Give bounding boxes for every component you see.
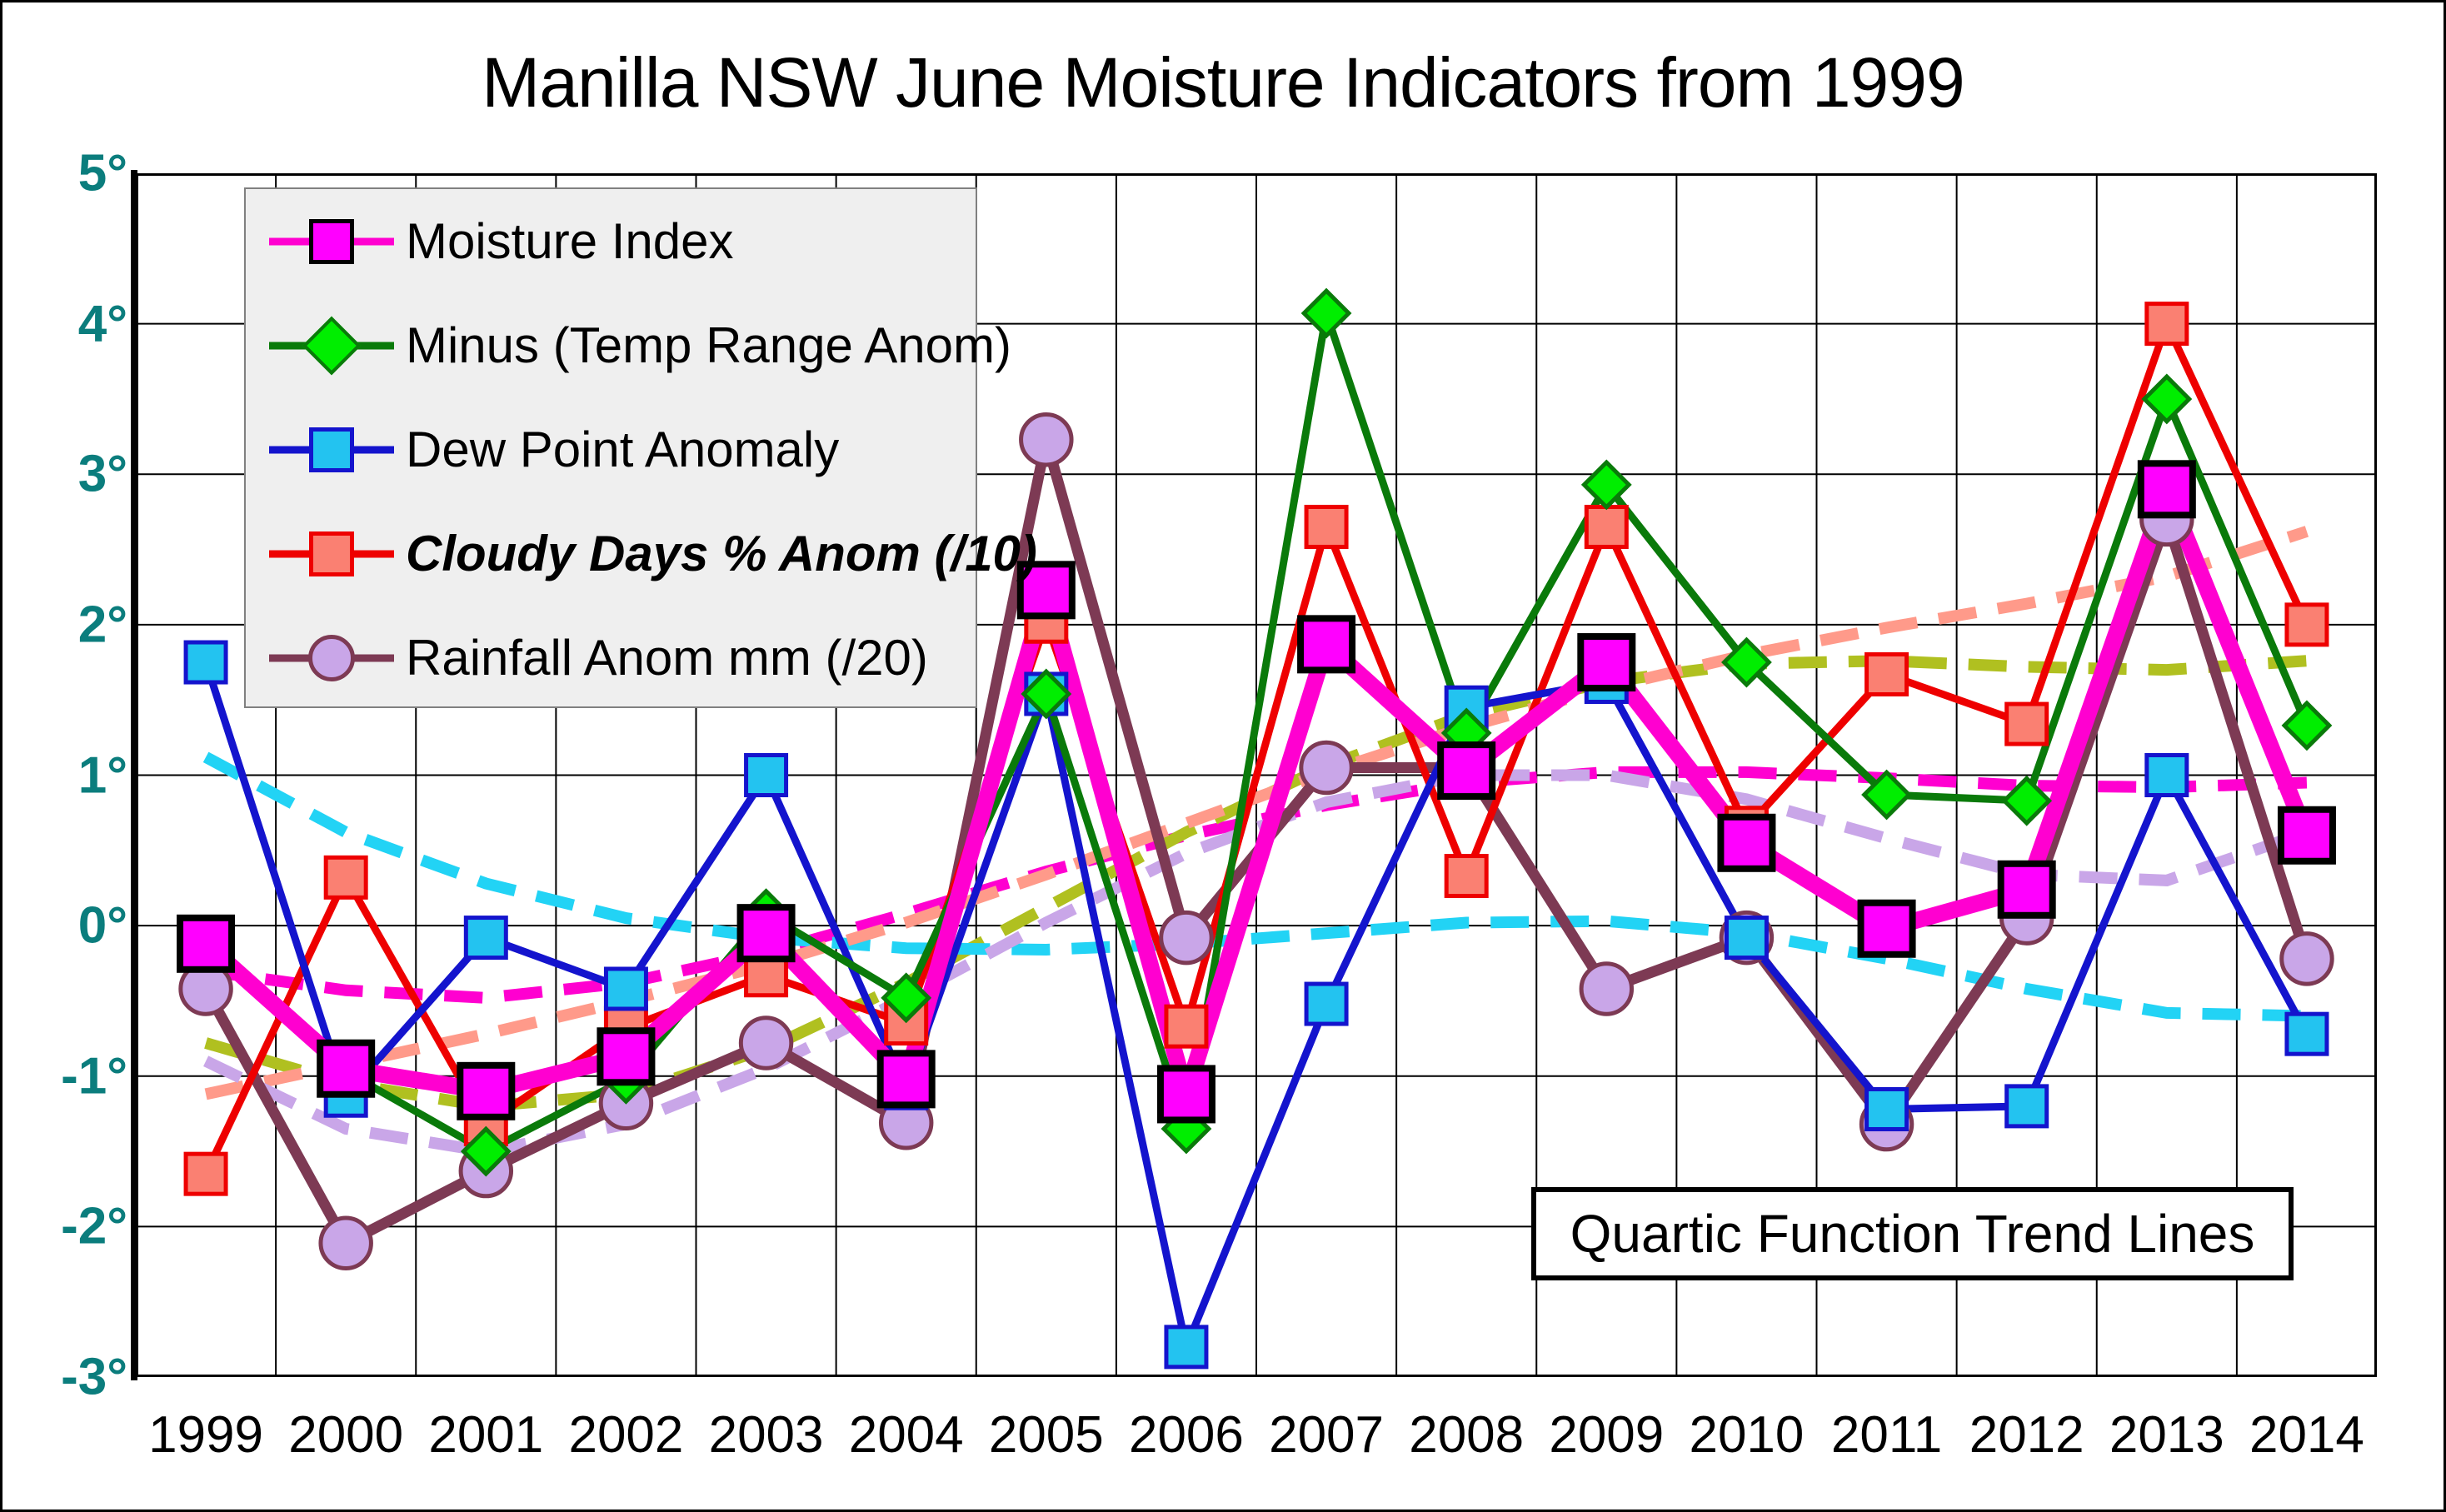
y-axis-tick-label: 4° bbox=[11, 294, 127, 353]
data-point bbox=[1021, 414, 1071, 464]
data-point bbox=[1867, 654, 1907, 694]
data-point bbox=[320, 1043, 372, 1095]
data-point bbox=[326, 857, 366, 897]
page-title: Manilla NSW June Moisture Indicators fro… bbox=[2, 42, 2444, 123]
data-point bbox=[1580, 636, 1632, 688]
data-point bbox=[2147, 756, 2187, 796]
data-point bbox=[1301, 742, 1351, 792]
y-axis-tick-label: -3° bbox=[11, 1348, 127, 1407]
data-point bbox=[1446, 856, 1486, 896]
legend-item-label: Moisture Index bbox=[406, 212, 734, 270]
data-point bbox=[606, 969, 646, 1009]
legend-key-icon bbox=[269, 321, 394, 371]
legend-marker-square-icon bbox=[309, 219, 354, 264]
data-point bbox=[466, 918, 506, 958]
data-point bbox=[460, 1065, 512, 1117]
data-point bbox=[186, 642, 226, 682]
data-point bbox=[2141, 463, 2193, 515]
x-axis-tick-label: 2014 bbox=[2215, 1405, 2399, 1465]
y-axis-tick-label: 1° bbox=[11, 746, 127, 805]
legend-key-icon bbox=[269, 633, 394, 683]
y-axis-tick-label: 2° bbox=[11, 595, 127, 654]
data-point bbox=[2001, 864, 2053, 916]
y-axis-tick-label: 5° bbox=[11, 144, 127, 203]
y-axis-tick-label: 3° bbox=[11, 445, 127, 504]
legend-key-icon bbox=[269, 425, 394, 475]
legend-item-label: Minus (Temp Range Anom) bbox=[406, 317, 1011, 374]
legend-item-2[interactable]: Dew Point Anomaly bbox=[246, 397, 976, 502]
legend-marker-circle-icon bbox=[308, 635, 355, 681]
chart-frame: Manilla NSW June Moisture Indicators fro… bbox=[0, 0, 2446, 1512]
legend-key-icon bbox=[269, 217, 394, 267]
data-point bbox=[1440, 745, 1492, 796]
data-point bbox=[2282, 934, 2332, 984]
y-axis-tick-label: -2° bbox=[11, 1197, 127, 1256]
data-point bbox=[1161, 1068, 1212, 1120]
legend-item-0[interactable]: Moisture Index bbox=[246, 189, 976, 293]
data-point bbox=[1166, 1327, 1206, 1367]
data-point bbox=[1166, 1006, 1206, 1046]
data-point bbox=[186, 1154, 226, 1194]
data-point bbox=[1306, 506, 1346, 546]
y-axis-tick-label: -1° bbox=[11, 1046, 127, 1105]
legend-item-label: Dew Point Anomaly bbox=[406, 421, 839, 478]
y-axis-spine bbox=[131, 170, 137, 1380]
data-point bbox=[2281, 810, 2333, 861]
data-point bbox=[1586, 506, 1626, 546]
y-axis-tick-label: 0° bbox=[11, 896, 127, 956]
chart-legend: Moisture IndexMinus (Temp Range Anom)Dew… bbox=[244, 187, 977, 708]
legend-item-label: Rainfall Anom mm (/20) bbox=[406, 629, 928, 686]
data-point bbox=[1726, 918, 1766, 958]
data-point bbox=[321, 1218, 371, 1268]
data-point bbox=[1867, 1089, 1907, 1129]
legend-item-label: Cloudy Days % Anom (/10) bbox=[406, 525, 1037, 582]
data-point bbox=[746, 756, 786, 796]
data-point bbox=[2147, 304, 2187, 344]
legend-item-4[interactable]: Rainfall Anom mm (/20) bbox=[246, 606, 976, 710]
data-point bbox=[1161, 912, 1211, 962]
legend-key-icon bbox=[269, 529, 394, 579]
data-point bbox=[180, 918, 232, 970]
legend-marker-square-icon bbox=[309, 531, 354, 576]
data-point bbox=[1861, 903, 1913, 955]
data-point bbox=[741, 1018, 791, 1068]
legend-marker-square-icon bbox=[309, 427, 354, 472]
data-point bbox=[741, 907, 792, 959]
legend-item-1[interactable]: Minus (Temp Range Anom) bbox=[246, 293, 976, 397]
data-point bbox=[2007, 704, 2047, 744]
data-point bbox=[2007, 1086, 2047, 1126]
data-point bbox=[600, 1030, 651, 1082]
legend-marker-diamond-icon bbox=[302, 316, 362, 375]
data-point bbox=[1300, 618, 1352, 670]
data-point bbox=[1581, 964, 1631, 1014]
data-point bbox=[1720, 817, 1772, 869]
data-point bbox=[2287, 605, 2327, 645]
data-point bbox=[881, 1053, 932, 1105]
data-point bbox=[2287, 1014, 2327, 1054]
legend-item-3[interactable]: Cloudy Days % Anom (/10) bbox=[246, 502, 976, 606]
data-point bbox=[1306, 984, 1346, 1024]
trend-annotation: Quartic Function Trend Lines bbox=[1531, 1187, 2294, 1280]
